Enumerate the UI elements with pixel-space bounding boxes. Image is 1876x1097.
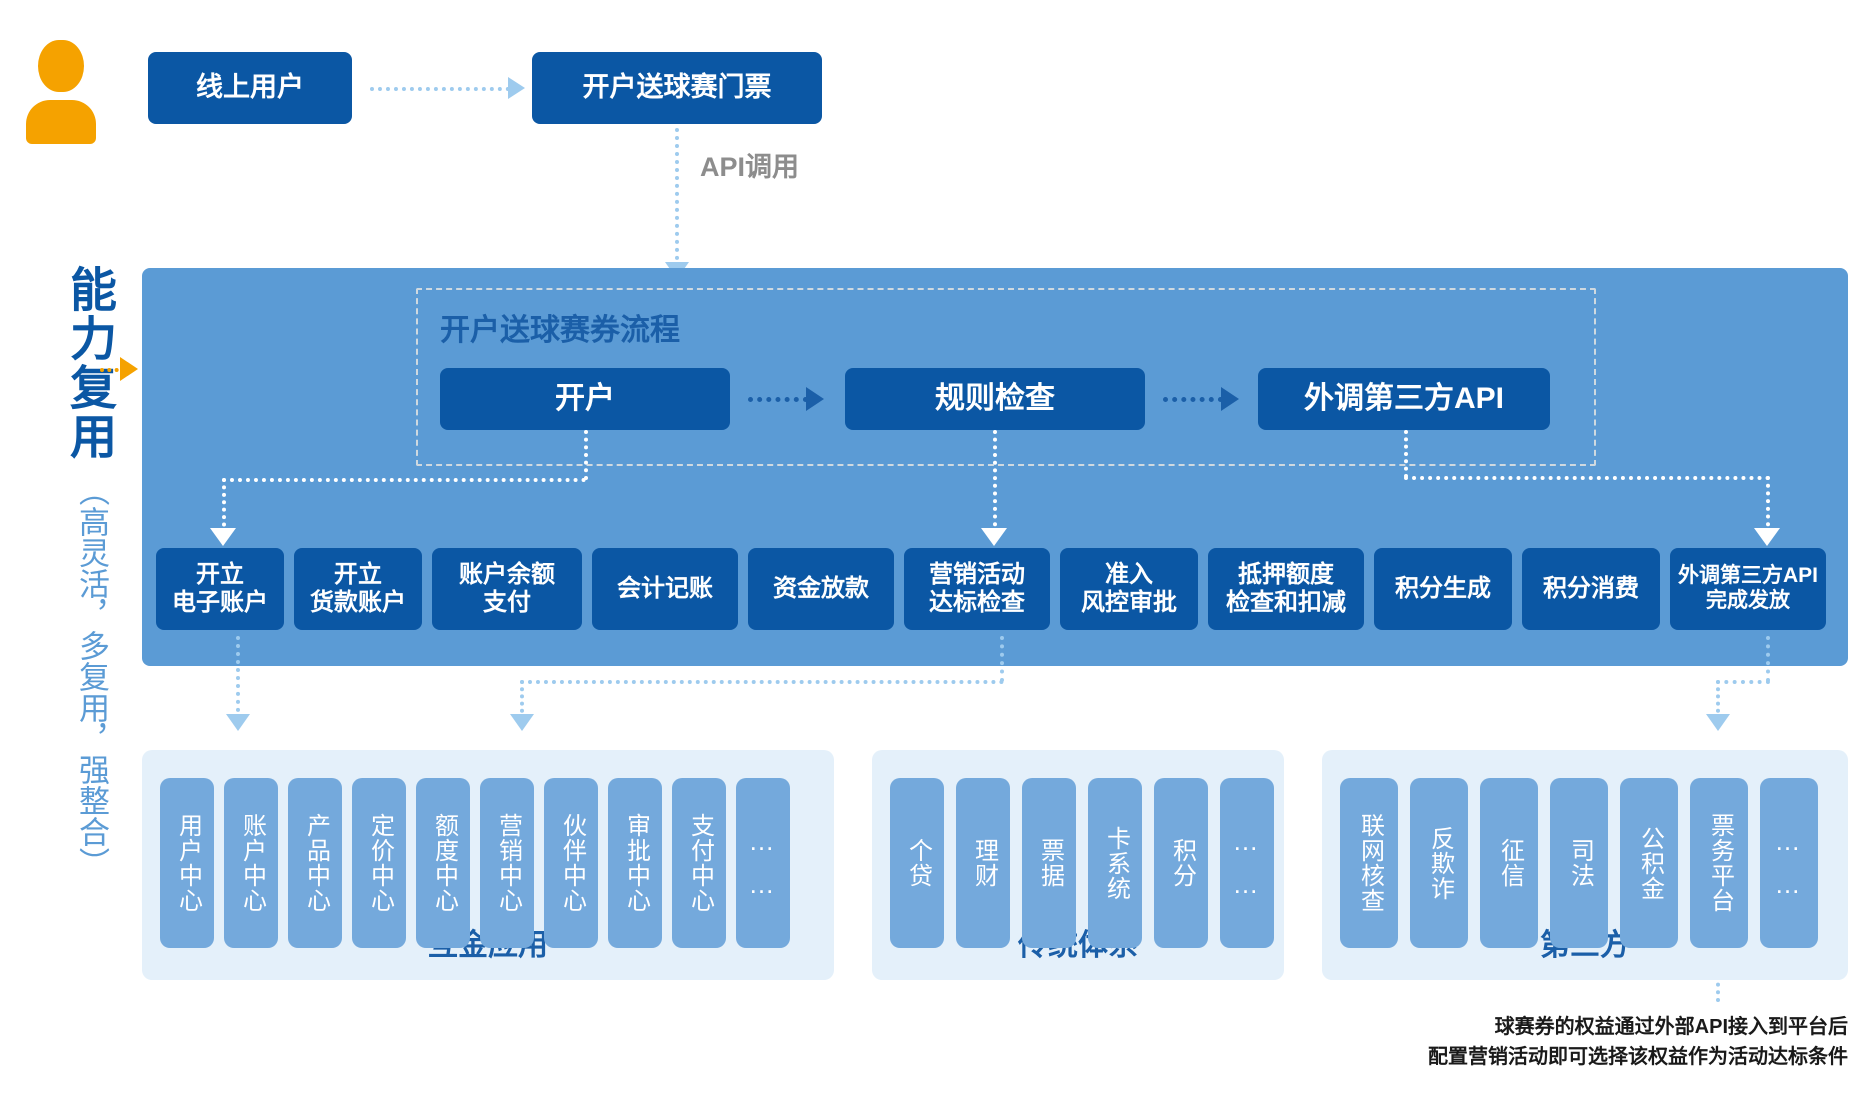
conn-down-marketing-v1: [1000, 636, 1004, 682]
conn-down-api-h: [1716, 680, 1770, 684]
conn-api-head: [1754, 528, 1780, 546]
flow-step-rule-check[interactable]: 规则检查: [845, 368, 1145, 430]
capability-box-7[interactable]: 准入 风控审批: [1060, 548, 1198, 630]
group-1-item-9[interactable]: 支付中心: [672, 778, 726, 948]
group-disanfang: 第三方 联网核查反欺诈征信司法公积金票务平台……: [1322, 750, 1848, 980]
arrow-user-to-ticket-head: [508, 77, 525, 99]
left-caption-sub: （高灵活，多复用，强整合）: [50, 475, 110, 895]
group-1-item-6[interactable]: 营销中心: [480, 778, 534, 948]
group-2-item-5[interactable]: 积分: [1154, 778, 1208, 948]
conn-down-hujin-head: [226, 714, 250, 731]
group-1-item-5[interactable]: 额度中心: [416, 778, 470, 948]
conn-open-acct-head: [210, 528, 236, 546]
group-2-item-1[interactable]: 个贷: [890, 778, 944, 948]
group-hujin: 互金应用 用户中心账户中心产品中心定价中心额度中心营销中心伙伴中心审批中心支付中…: [142, 750, 834, 980]
footer-note-line1: 球赛券的权益通过外部API接入到平台后: [1428, 1012, 1848, 1042]
group-1-item-8[interactable]: 审批中心: [608, 778, 662, 948]
capability-box-2[interactable]: 开立 货款账户: [294, 548, 422, 630]
flow-arrow-1-line: [748, 397, 808, 402]
group-2-item-3[interactable]: 票据: [1022, 778, 1076, 948]
capability-box-4[interactable]: 会计记账: [592, 548, 738, 630]
conn-down-api-v1: [1766, 636, 1770, 682]
conn-api-v1: [1404, 430, 1408, 478]
arrow-user-to-ticket-line: [370, 87, 510, 91]
capability-box-8[interactable]: 抵押额度 检查和扣减: [1208, 548, 1364, 630]
group-1-item-7[interactable]: 伙伴中心: [544, 778, 598, 948]
capability-box-5[interactable]: 资金放款: [748, 548, 894, 630]
group-1-ellipsis: ……: [736, 778, 790, 948]
group-1-item-4[interactable]: 定价中心: [352, 778, 406, 948]
group-3-ellipsis: ……: [1760, 778, 1818, 948]
group-2-item-4[interactable]: 卡系统: [1088, 778, 1142, 948]
group-1-item-1[interactable]: 用户中心: [160, 778, 214, 948]
group-1-item-3[interactable]: 产品中心: [288, 778, 342, 948]
footer-note-line2: 配置营销活动即可选择该权益作为活动达标条件: [1428, 1042, 1848, 1072]
flow-arrow-1-head: [806, 387, 824, 411]
node-online-user[interactable]: 线上用户: [148, 52, 352, 124]
conn-rule-check-v: [993, 430, 997, 534]
group-3-item-2[interactable]: 反欺诈: [1410, 778, 1468, 948]
flow-arrow-2-head: [1221, 387, 1239, 411]
user-avatar-body: [26, 100, 96, 144]
group-3-item-3[interactable]: 征信: [1480, 778, 1538, 948]
flow-arrow-2-line: [1163, 397, 1223, 402]
node-gift-ticket[interactable]: 开户送球赛门票: [532, 52, 822, 124]
conn-down-marketing-head: [510, 714, 534, 731]
capability-box-3[interactable]: 账户余额 支付: [432, 548, 582, 630]
conn-down-marketing-h: [520, 680, 1004, 684]
flow-step-third-party-api[interactable]: 外调第三方API: [1258, 368, 1550, 430]
group-chuantong: 传统体系 个贷理财票据卡系统积分……: [872, 750, 1284, 980]
conn-down-api-head: [1706, 714, 1730, 731]
capability-box-10[interactable]: 积分消费: [1522, 548, 1660, 630]
group-2-item-2[interactable]: 理财: [956, 778, 1010, 948]
user-avatar-head: [38, 40, 84, 92]
flow-step-open-account[interactable]: 开户: [440, 368, 730, 430]
capability-box-9[interactable]: 积分生成: [1374, 548, 1512, 630]
arrow-ticket-to-panel-line: [675, 128, 679, 268]
conn-api-v2: [1766, 476, 1770, 534]
footer-note: 球赛券的权益通过外部API接入到平台后 配置营销活动即可选择该权益作为活动达标条…: [1428, 1012, 1848, 1072]
group-3-item-5[interactable]: 公积金: [1620, 778, 1678, 948]
conn-open-acct-v2: [222, 478, 226, 534]
capability-box-6[interactable]: 营销活动 达标检查: [904, 548, 1050, 630]
conn-rule-check-head: [981, 528, 1007, 546]
group-1-item-2[interactable]: 账户中心: [224, 778, 278, 948]
flow-title: 开户送球赛券流程: [440, 305, 680, 349]
capability-box-11[interactable]: 外调第三方API 完成发放: [1670, 548, 1826, 630]
conn-api-h: [1404, 476, 1770, 480]
conn-down-hujin-line: [236, 636, 240, 720]
group-3-item-1[interactable]: 联网核查: [1340, 778, 1398, 948]
conn-open-acct-v1: [584, 430, 588, 480]
group-3-item-4[interactable]: 司法: [1550, 778, 1608, 948]
left-caption-main: 能力复用: [42, 265, 114, 461]
group-3-item-6[interactable]: 票务平台: [1690, 778, 1748, 948]
group-2-ellipsis: ……: [1220, 778, 1274, 948]
arrow-capability-head: [120, 357, 138, 381]
label-api-call: API调用: [700, 145, 799, 184]
capability-box-1[interactable]: 开立 电子账户: [156, 548, 284, 630]
conn-open-acct-h: [222, 478, 586, 482]
